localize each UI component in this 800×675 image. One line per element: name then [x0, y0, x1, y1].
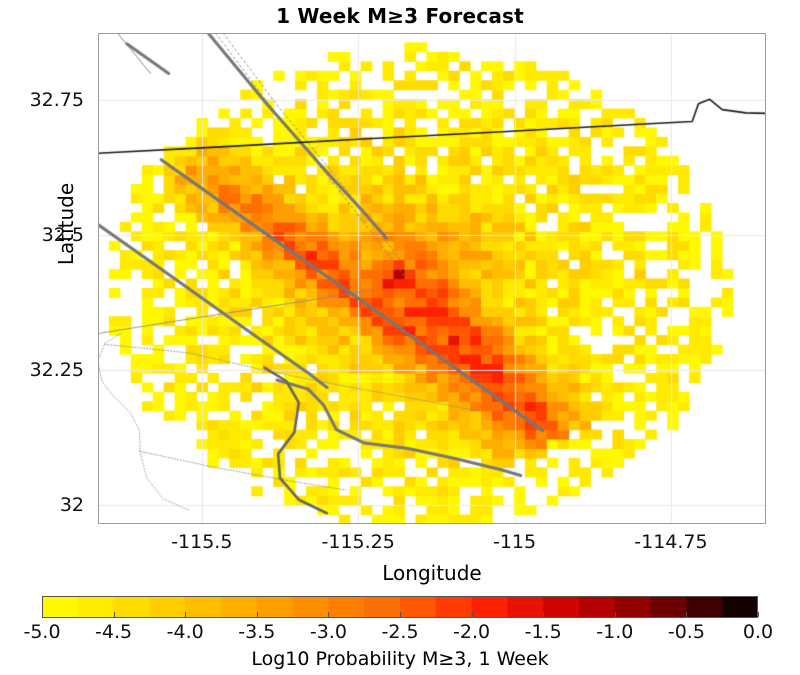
colorbar-tick-label-9: -0.5 — [668, 621, 705, 643]
colorbar-tick-mark-6 — [472, 612, 473, 617]
colorbar-tick-label-6: -2.0 — [453, 621, 490, 643]
colorbar-ticks: -5.0-4.5-4.0-3.5-3.0-2.5-2.0-1.5-1.0-0.5… — [0, 0, 800, 675]
colorbar-tick-label-2: -4.0 — [167, 621, 204, 643]
colorbar-tick-mark-2 — [185, 612, 186, 617]
colorbar-tick-label-7: -1.5 — [525, 621, 562, 643]
colorbar-tick-mark-1 — [114, 612, 115, 617]
forecast-map-figure: 1 Week M≥3 Forecast 32.7532.532.2532 -11… — [0, 0, 800, 675]
colorbar-tick-mark-5 — [400, 612, 401, 617]
colorbar-tick-label-1: -4.5 — [95, 621, 132, 643]
colorbar-tick-mark-7 — [543, 612, 544, 617]
colorbar-tick-label-10: 0.0 — [743, 621, 773, 643]
colorbar-tick-mark-10 — [758, 612, 759, 617]
colorbar-tick-label-5: -2.5 — [381, 621, 418, 643]
colorbar-tick-mark-8 — [615, 612, 616, 617]
colorbar-label: Log10 Probability M≥3, 1 Week — [0, 648, 800, 670]
colorbar-tick-mark-4 — [328, 612, 329, 617]
colorbar-tick-label-4: -3.0 — [310, 621, 347, 643]
colorbar-tick-label-8: -1.0 — [596, 621, 633, 643]
colorbar-tick-label-0: -5.0 — [23, 621, 60, 643]
colorbar-tick-mark-3 — [257, 612, 258, 617]
colorbar-tick-label-3: -3.5 — [238, 621, 275, 643]
colorbar-tick-mark-9 — [686, 612, 687, 617]
colorbar-tick-mark-0 — [42, 612, 43, 617]
